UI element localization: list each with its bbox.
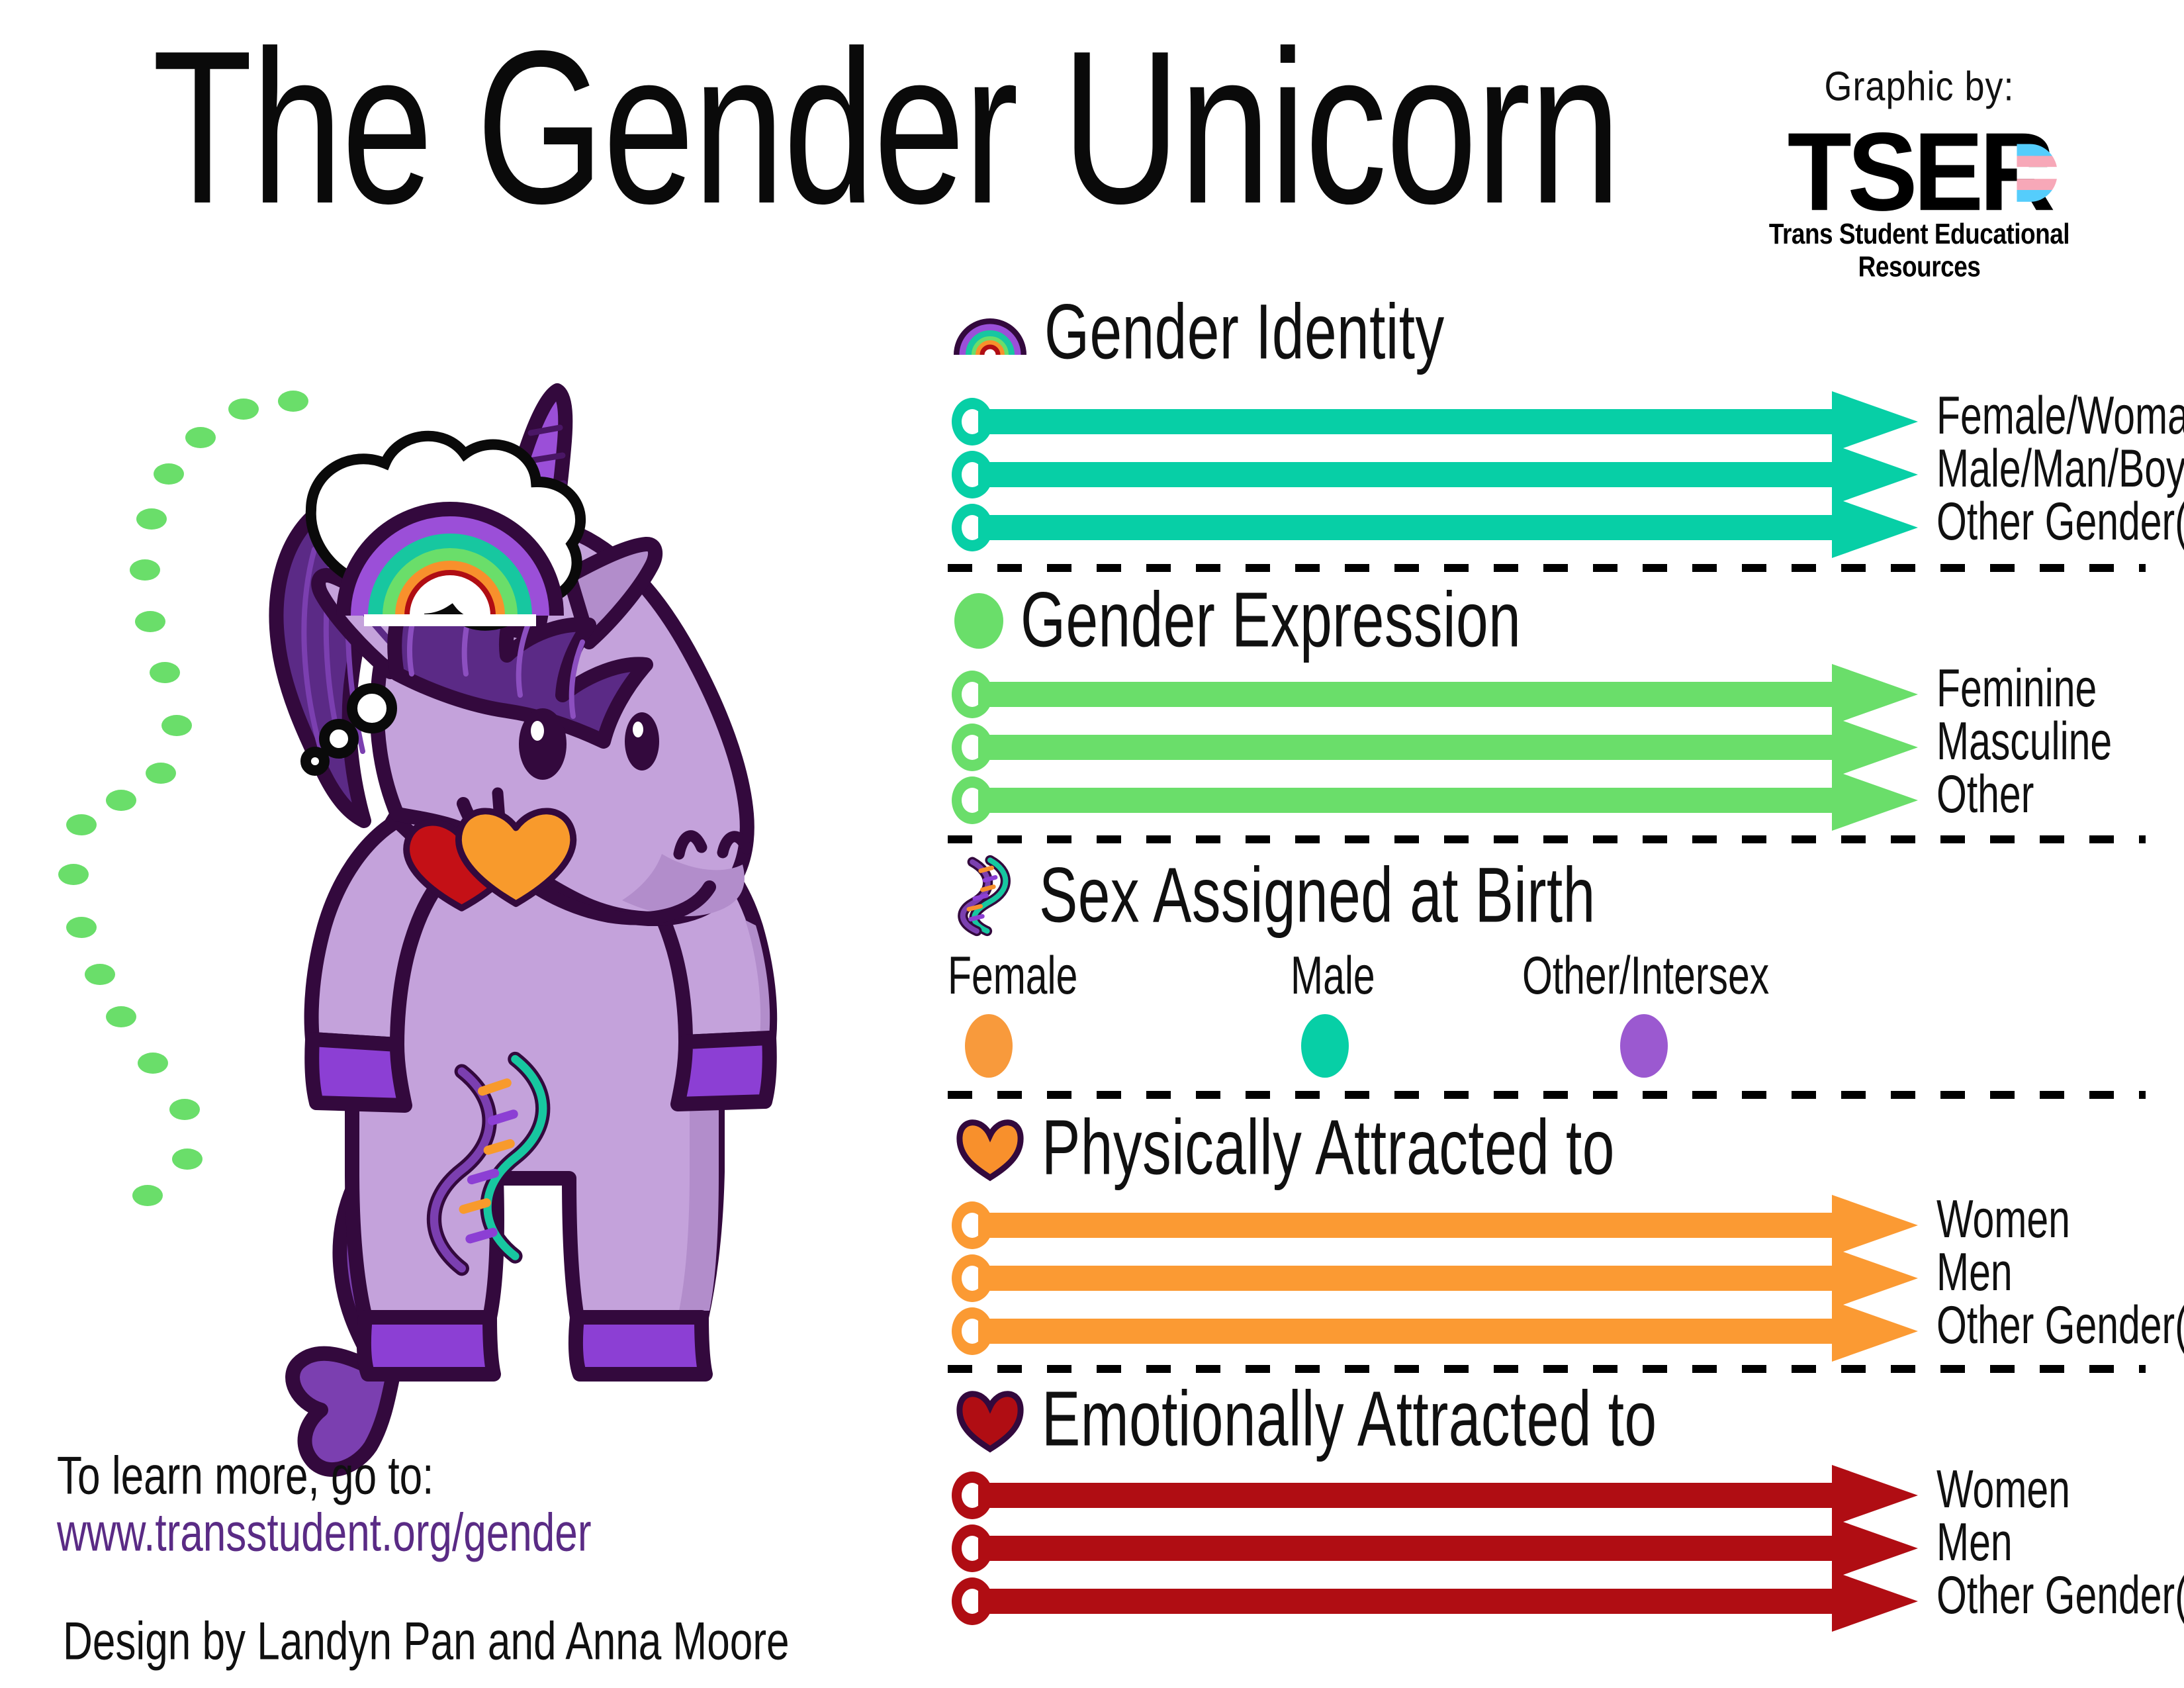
section-header-gender-identity: Gender Identity <box>953 298 1466 367</box>
arrow-head-icon <box>1832 1301 1918 1362</box>
unicorn-eye-left <box>519 708 567 780</box>
arrow-head-icon <box>1832 1465 1918 1526</box>
arrow-label: Other Gender(s) <box>1936 1295 2184 1356</box>
arrow-label: Male/Man/Boy <box>1936 438 2184 499</box>
rainbow-icon <box>953 308 1027 357</box>
unicorn-right-cuff <box>678 1038 770 1104</box>
arrow-label: Feminine <box>1936 658 2097 719</box>
arrow-shaft <box>978 1213 1858 1238</box>
section-header-physically-attracted-to: Physically Attracted to <box>956 1113 1645 1183</box>
arrow-head-icon <box>1832 391 1918 452</box>
dna-icon <box>958 857 1022 934</box>
arrow-shaft <box>978 1536 1858 1561</box>
section-header-gender-expression: Gender Expression <box>954 586 1547 655</box>
arrow-shaft <box>978 682 1858 707</box>
arrow-head-icon <box>1832 1248 1918 1309</box>
arrow-shaft <box>978 1319 1858 1344</box>
sab-dot-other-intersex <box>1620 1014 1668 1078</box>
section-divider-3 <box>948 1091 2146 1099</box>
section-title-physically-attracted-to: Physically Attracted to <box>1042 1103 1615 1192</box>
arrow-head-icon <box>1832 444 1918 505</box>
arrow-head-icon <box>1832 664 1918 725</box>
section-title-sex-assigned-at-birth: Sex Assigned at Birth <box>1039 851 1596 940</box>
arrow-label: Women <box>1936 1189 2070 1250</box>
design-credit-label: Design by Landyn Pan and Anna Moore <box>63 1610 790 1671</box>
tser-credit-block: Graphic by: TSER Trans Student Education… <box>1734 63 2105 273</box>
arrow-label: Female/Woman/Girl <box>1936 385 2184 446</box>
arrow-label: Women <box>1936 1459 2070 1520</box>
section-header-emotionally-attracted-to: Emotionally Attracted to <box>956 1385 1690 1454</box>
page-title: The Gender Unicorn <box>152 23 1619 233</box>
section-divider-4 <box>948 1365 2146 1373</box>
arrow-head-icon <box>1832 1195 1918 1256</box>
unicorn-eye-right <box>625 712 659 771</box>
arrow-label: Other <box>1936 764 2034 825</box>
unicorn-left-cuff <box>312 1039 405 1105</box>
arrow-head-icon <box>1832 770 1918 831</box>
section-title-gender-expression: Gender Expression <box>1021 576 1521 665</box>
sab-label-male: Male <box>1291 945 1375 1006</box>
arrow-shaft <box>978 515 1858 540</box>
tser-logo-wordmark: TSER <box>1788 116 2052 227</box>
section-title-emotionally-attracted-to: Emotionally Attracted to <box>1042 1375 1657 1464</box>
unicorn-right-leg-cuff <box>576 1317 705 1374</box>
arrow-label: Men <box>1936 1242 2013 1303</box>
arrow-label: Men <box>1936 1512 2013 1573</box>
arrow-label: Other Gender(s) <box>1936 491 2184 552</box>
sab-dot-female <box>965 1014 1013 1078</box>
arrow-shaft <box>978 1266 1858 1291</box>
gender-unicorn-infographic: The Gender Unicorn Graphic by: TSER Tran… <box>0 0 2184 1688</box>
arrow-label: Other Gender(s) <box>1936 1565 2184 1626</box>
sab-label-female: Female <box>948 945 1077 1006</box>
unicorn-left-leg-cuff <box>364 1317 494 1374</box>
arrow-label: Masculine <box>1936 711 2112 772</box>
tser-logo-text: TSER <box>1788 109 2052 234</box>
arrow-shaft <box>978 1483 1858 1508</box>
arrow-head-icon <box>1832 717 1918 778</box>
orange-heart-icon <box>956 1117 1024 1180</box>
arrow-head-icon <box>1832 1571 1918 1632</box>
website-url-link[interactable]: www.transstudent.org/gender <box>57 1501 591 1563</box>
arrow-shaft <box>978 462 1858 487</box>
section-title-gender-identity: Gender Identity <box>1044 288 1445 377</box>
trans-flag-icon <box>2017 144 2057 202</box>
arrow-shaft <box>978 1589 1858 1614</box>
arrow-shaft <box>978 788 1858 813</box>
arrow-shaft <box>978 735 1858 760</box>
sab-dot-male <box>1301 1014 1349 1078</box>
arrow-shaft <box>978 409 1858 434</box>
graphic-by-label: Graphic by: <box>1734 63 2105 110</box>
sab-label-other-intersex: Other/Intersex <box>1522 945 1769 1006</box>
red-heart-icon <box>956 1388 1024 1452</box>
section-divider-1 <box>948 564 2146 572</box>
section-divider-2 <box>948 835 2146 843</box>
arrow-head-icon <box>1832 497 1918 558</box>
section-header-sex-assigned-at-birth: Sex Assigned at Birth <box>958 857 1625 934</box>
tser-org-name: Trans Student Educational Resources <box>1734 218 2105 283</box>
unicorn-illustration <box>199 311 927 1383</box>
arrow-head-icon <box>1832 1518 1918 1579</box>
learn-more-label: To learn more, go to: <box>57 1444 433 1506</box>
green-dot-icon <box>954 593 1003 649</box>
